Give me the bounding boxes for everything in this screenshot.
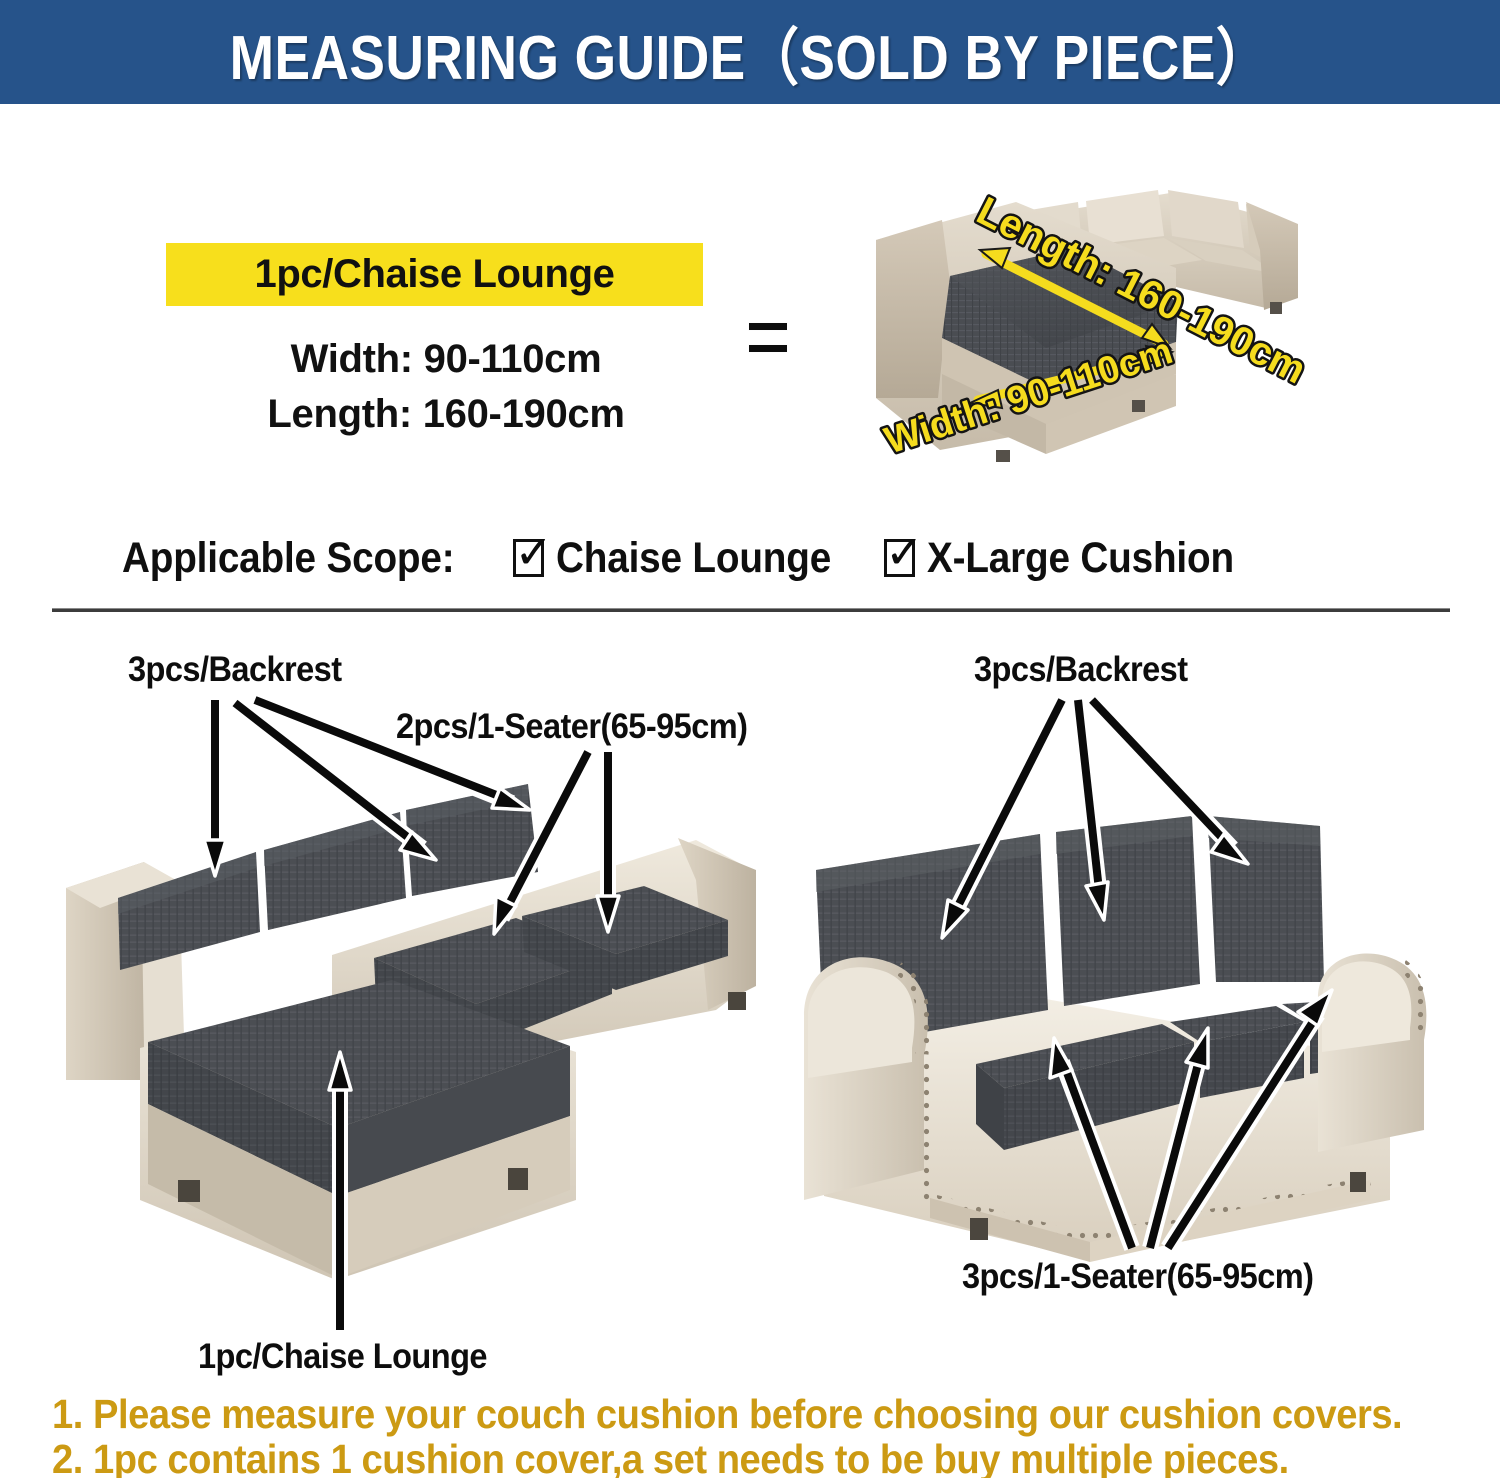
right-sofa-photo <box>790 800 1450 1280</box>
measuring-guide-page: MEASURING GUIDE（SOLD BY PIECE） 1pc/Chais… <box>0 0 1500 1478</box>
page-title: MEASURING GUIDE（SOLD BY PIECE） <box>230 7 1270 97</box>
callout-left-chaise: 1pc/Chaise Lounge <box>198 1337 487 1377</box>
checkbox-chaise-lounge[interactable]: ✓ <box>513 539 544 577</box>
length-dimension-text: Length: 160-190cm <box>136 392 756 437</box>
left-sectional-photo <box>56 780 766 1310</box>
footer-notes: 1. Please measure your couch cushion bef… <box>52 1392 1472 1478</box>
checkmark-icon: ✓ <box>885 530 925 576</box>
header-banner: MEASURING GUIDE（SOLD BY PIECE） <box>0 0 1500 104</box>
section-divider <box>52 608 1450 612</box>
chaise-lounge-highlight-label: 1pc/Chaise Lounge <box>255 252 615 297</box>
right-sofa-illustration <box>790 800 1450 1280</box>
callout-right-one-seater: 3pcs/1-Seater(65-95cm) <box>962 1257 1313 1297</box>
footer-note-1: 1. Please measure your couch cushion bef… <box>52 1392 1373 1437</box>
checkmark-icon: ✓ <box>514 530 554 576</box>
applicable-scope-label: Applicable Scope: <box>122 534 454 583</box>
equals-sign-icon <box>748 322 788 356</box>
scope-option-label-x-large-cushion: X-Large Cushion <box>927 534 1234 583</box>
footer-note-2: 2. 1pc contains 1 cushion cover,a set ne… <box>52 1437 1373 1478</box>
left-sofa-illustration <box>56 780 766 1310</box>
hero-sofa-illustration: Length: 160-190cm Width: 90-110cm <box>846 162 1316 492</box>
scope-option-label-chaise-lounge: Chaise Lounge <box>556 534 831 583</box>
width-dimension-text: Width: 90-110cm <box>136 337 756 382</box>
chaise-lounge-highlight-box: 1pc/Chaise Lounge <box>166 243 703 306</box>
hero-sectional-photo: Length: 160-190cm Width: 90-110cm <box>846 162 1316 492</box>
checkbox-x-large-cushion[interactable]: ✓ <box>884 539 915 577</box>
callout-right-backrest: 3pcs/Backrest <box>974 650 1188 690</box>
callout-left-one-seater: 2pcs/1-Seater(65-95cm) <box>396 707 747 747</box>
callout-left-backrest: 3pcs/Backrest <box>128 650 342 690</box>
applicable-scope-row: Applicable Scope: ✓ Chaise Lounge ✓ X-La… <box>122 533 1268 583</box>
